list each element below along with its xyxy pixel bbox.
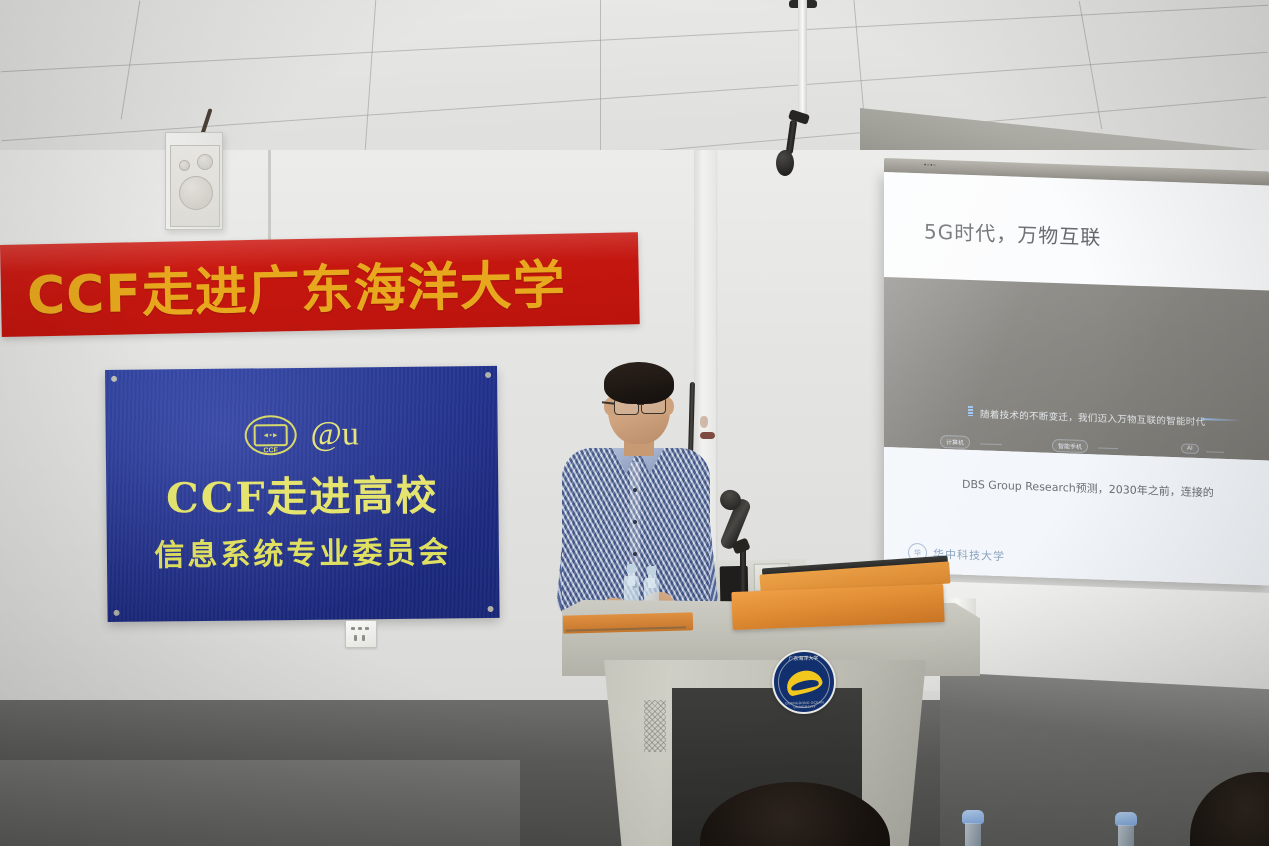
mid-driver-icon	[179, 160, 190, 171]
gdou-university-logo: 广东海洋大学 GUANGDONG OCEAN UNIVERSITY	[771, 649, 837, 715]
screen-bar-marking: ▪▫▪▫	[924, 162, 937, 168]
foreground-bottle-1[interactable]	[962, 810, 984, 846]
slide-node-tag-top-2: AI	[1181, 443, 1199, 454]
slide-content: 5G时代，万物互联 随着技术的不断变迁，我们迈入万物互联的智能时代 计算机 ▭ …	[884, 172, 1269, 585]
slide-bottom-text: DBS Group Research预测，2030年之前，连接的	[962, 476, 1214, 501]
foreground-bottle-2[interactable]	[1115, 812, 1137, 846]
ccf-logo-label: CCF	[247, 447, 295, 455]
woofer-icon	[179, 176, 213, 210]
wall-outlet[interactable]	[345, 620, 377, 648]
gdou-logo-name-top: 广东海洋大学	[773, 654, 833, 663]
podium-wood-front-ledge	[731, 584, 944, 630]
camera-pole	[798, 0, 807, 118]
blue-banner-logo-row: ◄▪► CCF @u	[244, 414, 359, 455]
red-banner: CCF走进广东海洋大学	[0, 232, 640, 337]
ceiling-camera	[776, 150, 794, 176]
blue-banner: ◄▪► CCF @u CCF走进高校 信息系统专业委员会	[105, 366, 500, 622]
blue-banner-sub-text: 信息系统专业委员会	[154, 527, 451, 574]
speaker-grille	[170, 145, 220, 227]
at-u-symbol: @u	[310, 415, 359, 454]
bullet-icon	[968, 406, 973, 416]
gdou-logo-name-bottom: GUANGDONG OCEAN UNIVERSITY	[775, 700, 835, 710]
floor-left	[0, 760, 520, 846]
projection-screen: ▪▫▪▫ 5G时代，万物互联 随着技术的不断变迁，我们迈入万物互联的智能时代 计…	[884, 172, 1269, 585]
blue-banner-main-text: CCF走进高校	[166, 462, 439, 525]
slide-diagram-area: 随着技术的不断变迁，我们迈入万物互联的智能时代 计算机 ▭ PC 时代 万维网 …	[884, 277, 1269, 460]
subtitle-accent-line	[1202, 418, 1242, 421]
slide-node-tag-top-1: 智能手机	[1052, 439, 1088, 453]
slide-title: 5G时代，万物互联	[924, 215, 1101, 250]
podium-vent	[644, 700, 666, 752]
slide-subtitle: 随着技术的不断变迁，我们迈入万物互联的智能时代	[980, 406, 1205, 428]
tweeter-icon	[197, 154, 213, 170]
presenter-hair	[604, 362, 674, 404]
wall-speaker	[165, 132, 223, 230]
ccf-logo-inner: ◄▪►	[253, 424, 287, 446]
ccf-logo-icon: ◄▪► CCF	[244, 415, 296, 456]
lecture-hall-photo: CCF走进广东海洋大学 ◄▪► CCF @u CCF走进高校 信息系统专业委员会…	[0, 0, 1269, 846]
red-banner-text: CCF走进广东海洋大学	[0, 242, 566, 328]
slide-node-tag-top-0: 计算机	[940, 435, 970, 449]
